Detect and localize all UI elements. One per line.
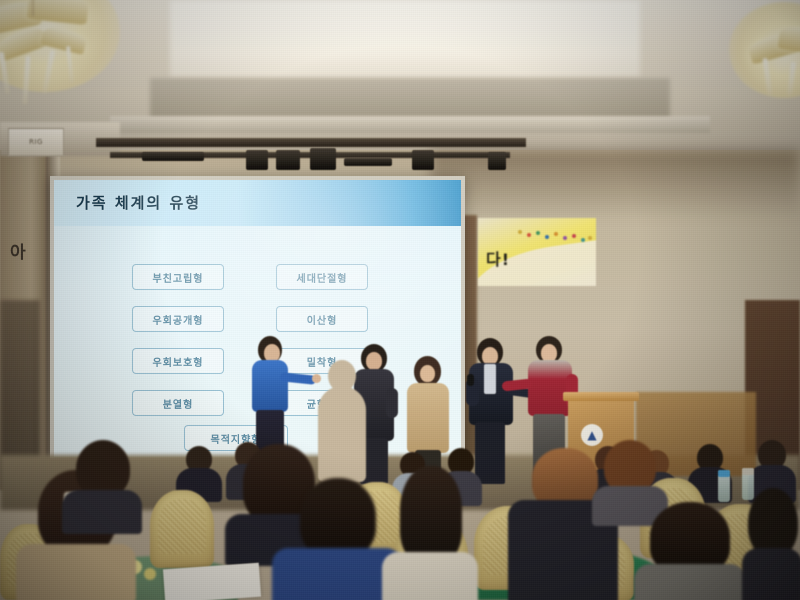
photograph-conference-presentation: RIG 아 가족 체계의 유형 부친고립형 우회공개형 우회보호형 분열형 세대… — [0, 0, 800, 600]
audience-body — [742, 548, 800, 600]
audience-member-foreground — [634, 502, 746, 600]
lighting-truss — [96, 138, 526, 147]
audience-body — [16, 544, 136, 600]
rig-label-text: RIG — [9, 138, 63, 146]
chandelier-right — [735, 10, 800, 110]
slide-box-left-1: 부친고립형 — [132, 264, 224, 290]
slide-box-right-1: 세대단절형 — [276, 264, 368, 290]
handout-paper — [163, 563, 261, 600]
podium-top — [563, 392, 639, 401]
wall-banner: 다! — [478, 218, 596, 286]
stage-spotlight — [488, 152, 506, 170]
audience-body — [382, 552, 478, 600]
cutout-head — [328, 360, 356, 392]
stage-spotlight — [412, 150, 434, 170]
audience-body — [62, 490, 142, 534]
microphone-icon — [467, 374, 474, 386]
slide-box-left-3: 우회보호형 — [132, 348, 224, 374]
stage-spotlight — [310, 148, 336, 170]
wall-shadow — [430, 150, 800, 220]
rig-label-box: RIG — [8, 128, 64, 156]
audience-member-foreground — [62, 440, 142, 532]
stage-spotlight — [142, 152, 204, 161]
chandelier-left — [0, 0, 150, 125]
stage-spotlight — [344, 158, 392, 166]
presenter-torso — [252, 360, 288, 412]
presenter-face — [420, 365, 435, 382]
left-sign-text: 아 — [10, 243, 26, 263]
slide-box-left-2: 우회공개형 — [132, 306, 224, 332]
audience-head — [300, 478, 376, 558]
stage-spotlight — [276, 150, 300, 170]
water-bottle — [718, 470, 730, 502]
left-wall-sign: 아 — [10, 238, 52, 268]
audience-member-foreground — [742, 488, 800, 600]
ceiling-lip — [110, 116, 710, 133]
presenter-shirt — [484, 364, 496, 394]
slide-box-right-2: 이산형 — [276, 306, 368, 332]
stage-spotlight — [246, 150, 268, 170]
presenter-face — [366, 352, 382, 370]
presenter-arm — [386, 388, 398, 418]
slide-title: 가족 체계의 유형 — [76, 192, 201, 213]
bottle-cap — [742, 468, 754, 475]
bottle-cap — [718, 470, 730, 477]
ceiling-light-panel — [170, 0, 640, 78]
audience-body — [634, 564, 746, 600]
audience-member-foreground — [382, 466, 478, 600]
slide-box-left-4: 분열형 — [132, 390, 224, 416]
presenter-torso — [407, 383, 449, 453]
audience-head — [400, 466, 462, 562]
banner-decor-dots — [518, 226, 596, 248]
banner-text: 다! — [486, 246, 510, 270]
banquet-chair — [150, 490, 214, 568]
